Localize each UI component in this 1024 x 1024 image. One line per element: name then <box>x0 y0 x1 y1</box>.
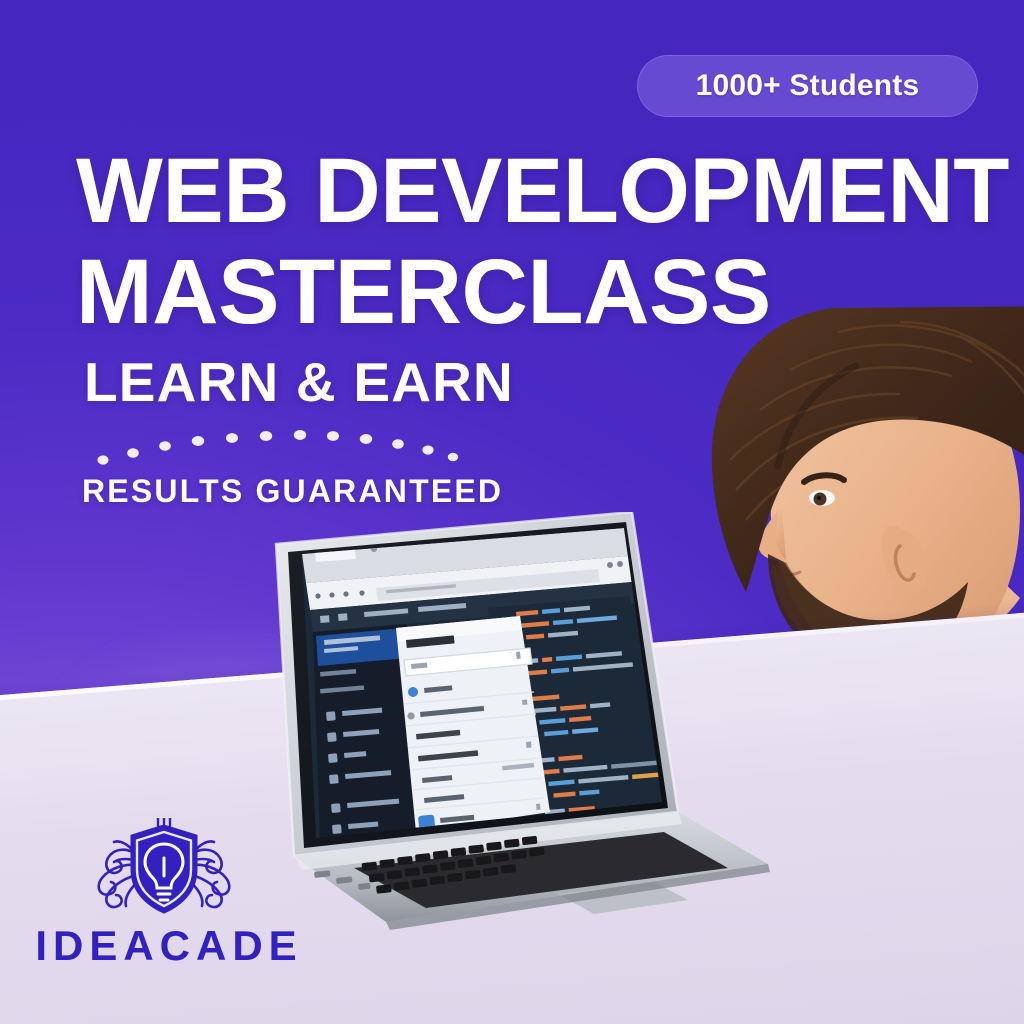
tagline: RESULTS GUARANTEED <box>82 473 503 510</box>
laptop-screen-content <box>288 518 688 848</box>
headline-line-1: WEB DEVELOPMENT <box>76 146 956 237</box>
logo: IDEACADE <box>34 818 304 988</box>
poster-canvas: 1000+ Students WEB DEVELOPMENT MASTERCLA… <box>0 0 1024 1024</box>
headline: WEB DEVELOPMENT MASTERCLASS <box>76 146 956 338</box>
screen-modal-panel <box>396 616 550 832</box>
students-badge: 1000+ Students <box>637 55 978 117</box>
headline-line-2: MASTERCLASS <box>76 247 956 338</box>
subheading: LEARN & EARN <box>84 350 514 414</box>
logo-wordmark: IDEACADE <box>34 922 304 970</box>
dotted-arc-divider <box>85 420 465 468</box>
shield-lightbulb-emblem-icon <box>84 818 244 923</box>
students-badge-label: 1000+ Students <box>696 69 920 103</box>
laptop <box>258 512 778 932</box>
